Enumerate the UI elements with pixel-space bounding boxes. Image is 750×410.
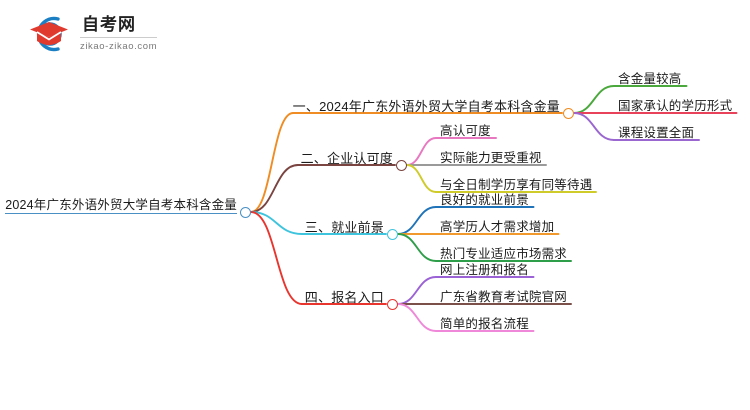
leaf-node-label-4-2[interactable]: 广东省教育考试院官网 <box>440 290 567 305</box>
root-node-label[interactable]: 2024年广东外语外贸大学自考本科含金量 <box>5 198 237 214</box>
branch-node-label-3[interactable]: 三、就业前景 <box>305 220 384 235</box>
branch-node-dot-3[interactable] <box>387 229 398 240</box>
branch-node-dot-4[interactable] <box>387 299 398 310</box>
leaf-node-label-1-3[interactable]: 课程设置全面 <box>618 126 694 141</box>
leaf-node-label-1-2[interactable]: 国家承认的学历形式 <box>618 99 732 114</box>
leaf-node-label-3-2[interactable]: 高学历人才需求增加 <box>440 220 554 235</box>
root-node-dot[interactable] <box>240 207 251 218</box>
leaf-node-label-4-3[interactable]: 简单的报名流程 <box>440 317 529 332</box>
mindmap-canvas: 2024年广东外语外贸大学自考本科含金量一、2024年广东外语外贸大学自考本科含… <box>0 0 750 410</box>
leaf-node-label-3-3[interactable]: 热门专业适应市场需求 <box>440 247 567 262</box>
leaf-node-label-2-3[interactable]: 与全日制学历享有同等待遇 <box>440 178 592 193</box>
leaf-node-label-3-1[interactable]: 良好的就业前景 <box>440 193 529 208</box>
leaf-node-label-2-2[interactable]: 实际能力更受重视 <box>440 151 542 166</box>
leaf-node-label-1-1[interactable]: 含金量较高 <box>618 72 682 87</box>
branch-node-dot-1[interactable] <box>563 108 574 119</box>
branch-node-dot-2[interactable] <box>396 160 407 171</box>
branch-node-label-1[interactable]: 一、2024年广东外语外贸大学自考本科含金量 <box>293 99 560 114</box>
branch-node-label-2[interactable]: 二、企业认可度 <box>301 151 393 166</box>
leaf-node-label-4-1[interactable]: 网上注册和报名 <box>440 263 529 278</box>
branch-node-label-4[interactable]: 四、报名入口 <box>305 290 384 305</box>
leaf-node-label-2-1[interactable]: 高认可度 <box>440 124 491 139</box>
